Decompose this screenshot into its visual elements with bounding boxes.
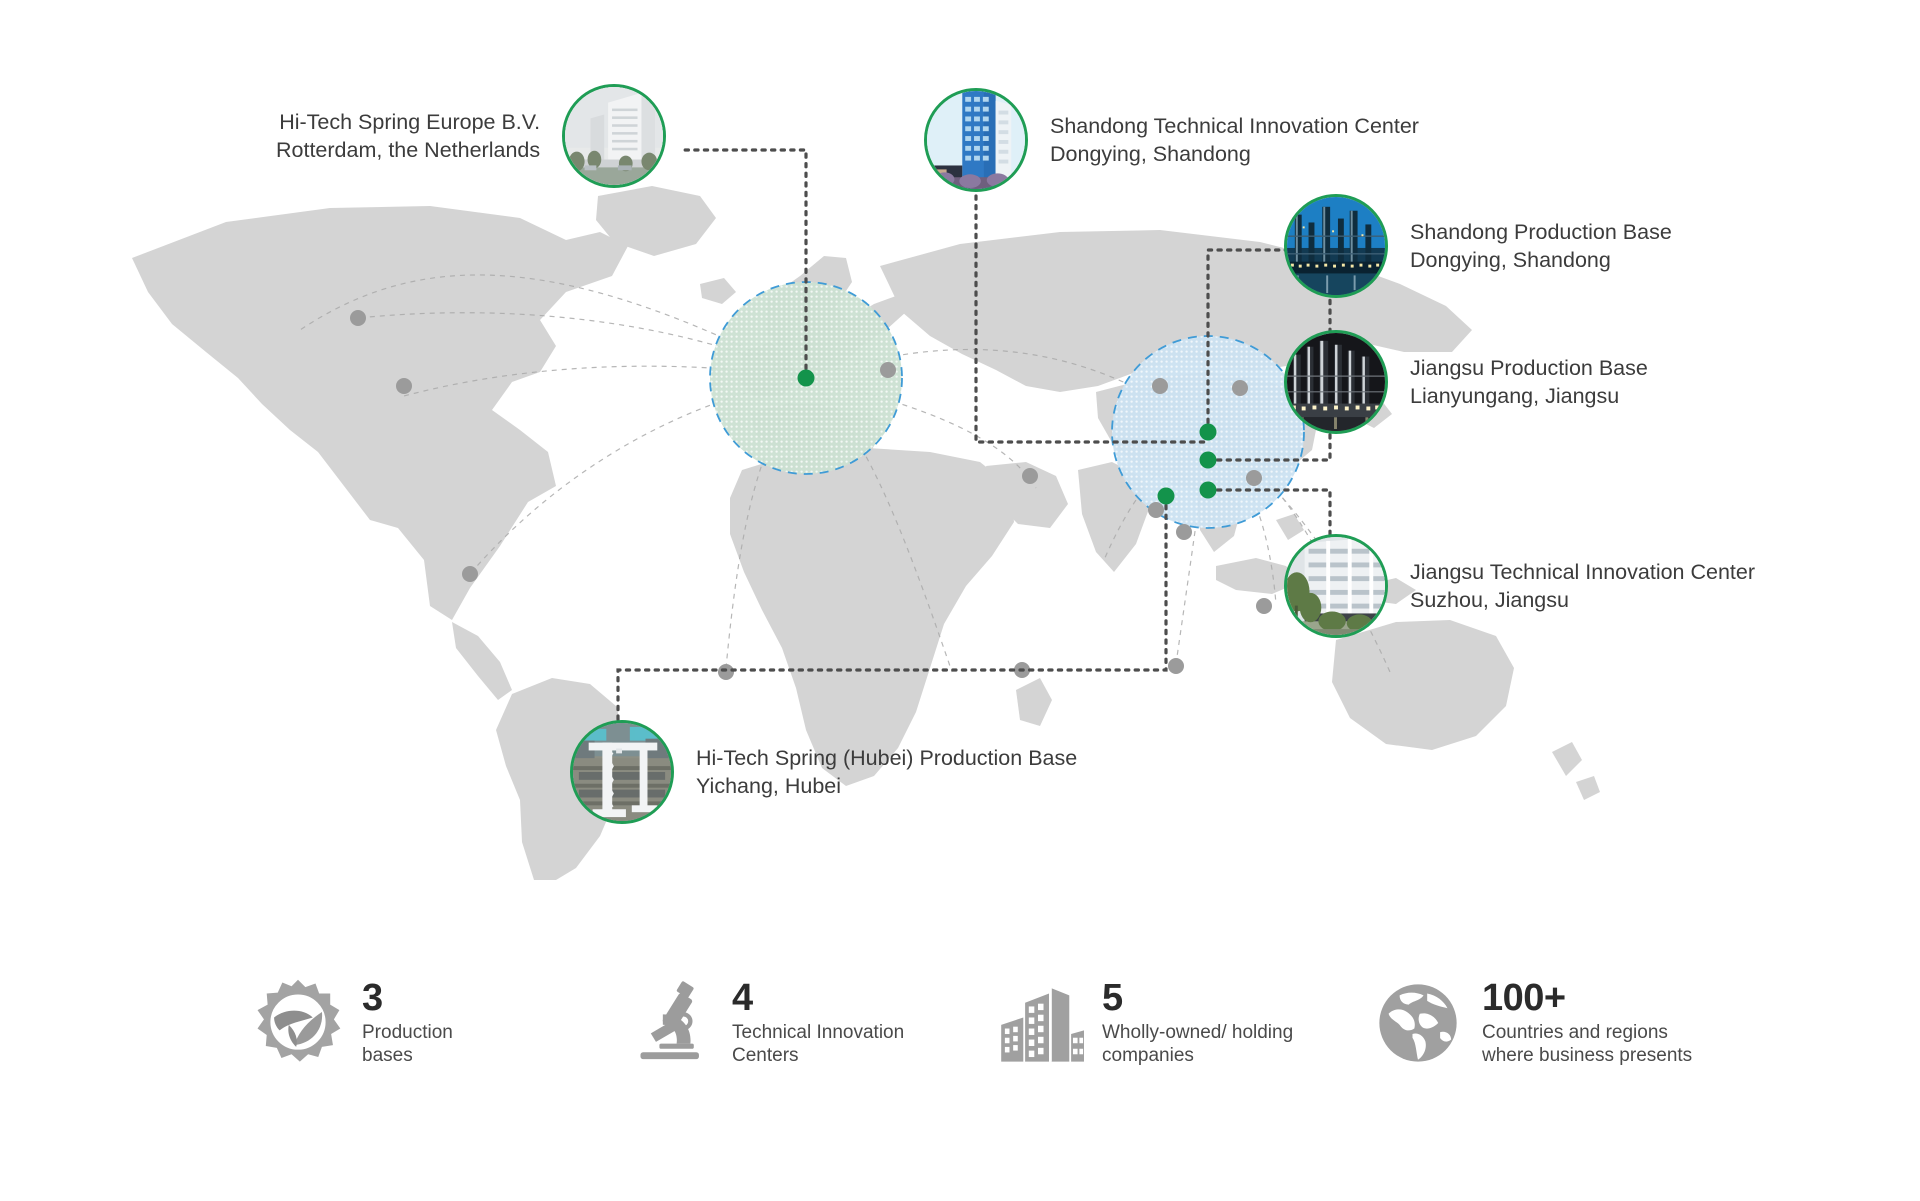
callout-title: Shandong Technical Innovation Center <box>1050 114 1419 138</box>
stat-label: Technical Innovation Centers <box>732 1021 904 1067</box>
callout-place: Dongying, Shandong <box>1050 140 1419 168</box>
modern-campus-photo[interactable] <box>1284 534 1388 638</box>
stat-number: 4 <box>732 979 904 1017</box>
callout-title: Jiangsu Technical Innovation Center <box>1410 560 1755 584</box>
callout-title: Jiangsu Production Base <box>1410 356 1648 380</box>
microscope-icon <box>620 975 716 1071</box>
stat-number: 5 <box>1102 979 1293 1017</box>
blue-glass-tower-photo[interactable] <box>924 88 1028 192</box>
statistics-row: 3 Production bases 4 Technical Innovatio… <box>0 955 1920 1125</box>
stat-label: Wholly-owned/ holding companies <box>1102 1021 1293 1067</box>
callout-label-jiangsu-technical-innovation-center: Jiangsu Technical Innovation Center Suzh… <box>1410 558 1755 615</box>
callout-title: Hi-Tech Spring (Hubei) Production Base <box>696 746 1077 770</box>
callout-label-jiangsu-production-base: Jiangsu Production Base Lianyungang, Jia… <box>1410 354 1648 411</box>
globe-icon <box>1370 975 1466 1071</box>
callout-shandong-production-base[interactable]: Shandong Production Base Dongying, Shand… <box>1284 194 1672 298</box>
callout-place: Rotterdam, the Netherlands <box>276 136 540 164</box>
callout-hi-tech-spring-europe[interactable]: Hi-Tech Spring Europe B.V. Rotterdam, th… <box>276 84 666 188</box>
callout-place: Lianyungang, Jiangsu <box>1410 382 1648 410</box>
stat-label: Countries and regions where business pre… <box>1482 1021 1692 1067</box>
callout-jiangsu-technical-innovation-center[interactable]: Jiangsu Technical Innovation Center Suzh… <box>1284 534 1755 638</box>
construction-crane-photo[interactable] <box>570 720 674 824</box>
stat-countries-and-regions: 100+ Countries and regions where busines… <box>1370 975 1692 1071</box>
callout-hi-tech-spring-hubei-production-base[interactable]: Hi-Tech Spring (Hubei) Production Base Y… <box>570 720 1077 824</box>
plant-towers-photo[interactable] <box>1284 330 1388 434</box>
callout-label-hi-tech-spring-hubei-production-base: Hi-Tech Spring (Hubei) Production Base Y… <box>696 744 1077 801</box>
callout-label-hi-tech-spring-europe: Hi-Tech Spring Europe B.V. Rotterdam, th… <box>276 108 540 165</box>
stat-number: 100+ <box>1482 979 1692 1017</box>
stat-technical-innovation-centers: 4 Technical Innovation Centers <box>620 975 904 1071</box>
stat-label: Production bases <box>362 1021 453 1067</box>
callout-place: Dongying, Shandong <box>1410 246 1672 274</box>
callout-shandong-technical-innovation-center[interactable]: Shandong Technical Innovation Center Don… <box>924 88 1419 192</box>
callout-title: Shandong Production Base <box>1410 220 1672 244</box>
callout-title: Hi-Tech Spring Europe B.V. <box>279 110 540 134</box>
node-jiangsu-suzhou <box>1200 482 1217 499</box>
callout-place: Suzhou, Jiangsu <box>1410 586 1755 614</box>
stat-number: 3 <box>362 979 453 1017</box>
buildings-icon <box>990 975 1086 1071</box>
world-map-infographic: Hi-Tech Spring Europe B.V. Rotterdam, th… <box>0 0 1920 880</box>
callout-label-shandong-technical-innovation-center: Shandong Technical Innovation Center Don… <box>1050 112 1419 169</box>
office-building-photo[interactable] <box>562 84 666 188</box>
callout-jiangsu-production-base[interactable]: Jiangsu Production Base Lianyungang, Jia… <box>1284 330 1648 434</box>
refinery-night-photo[interactable] <box>1284 194 1388 298</box>
callout-place: Yichang, Hubei <box>696 772 1077 800</box>
node-shandong <box>1200 424 1217 441</box>
node-hubei <box>1158 488 1175 505</box>
callout-label-shandong-production-base: Shandong Production Base Dongying, Shand… <box>1410 218 1672 275</box>
node-jiangsu-lyg <box>1200 452 1217 469</box>
gear-leaf-icon <box>250 975 346 1071</box>
node-europe <box>798 370 815 387</box>
stat-production-bases: 3 Production bases <box>250 975 453 1071</box>
stat-wholly-owned-holding-companies: 5 Wholly-owned/ holding companies <box>990 975 1293 1071</box>
